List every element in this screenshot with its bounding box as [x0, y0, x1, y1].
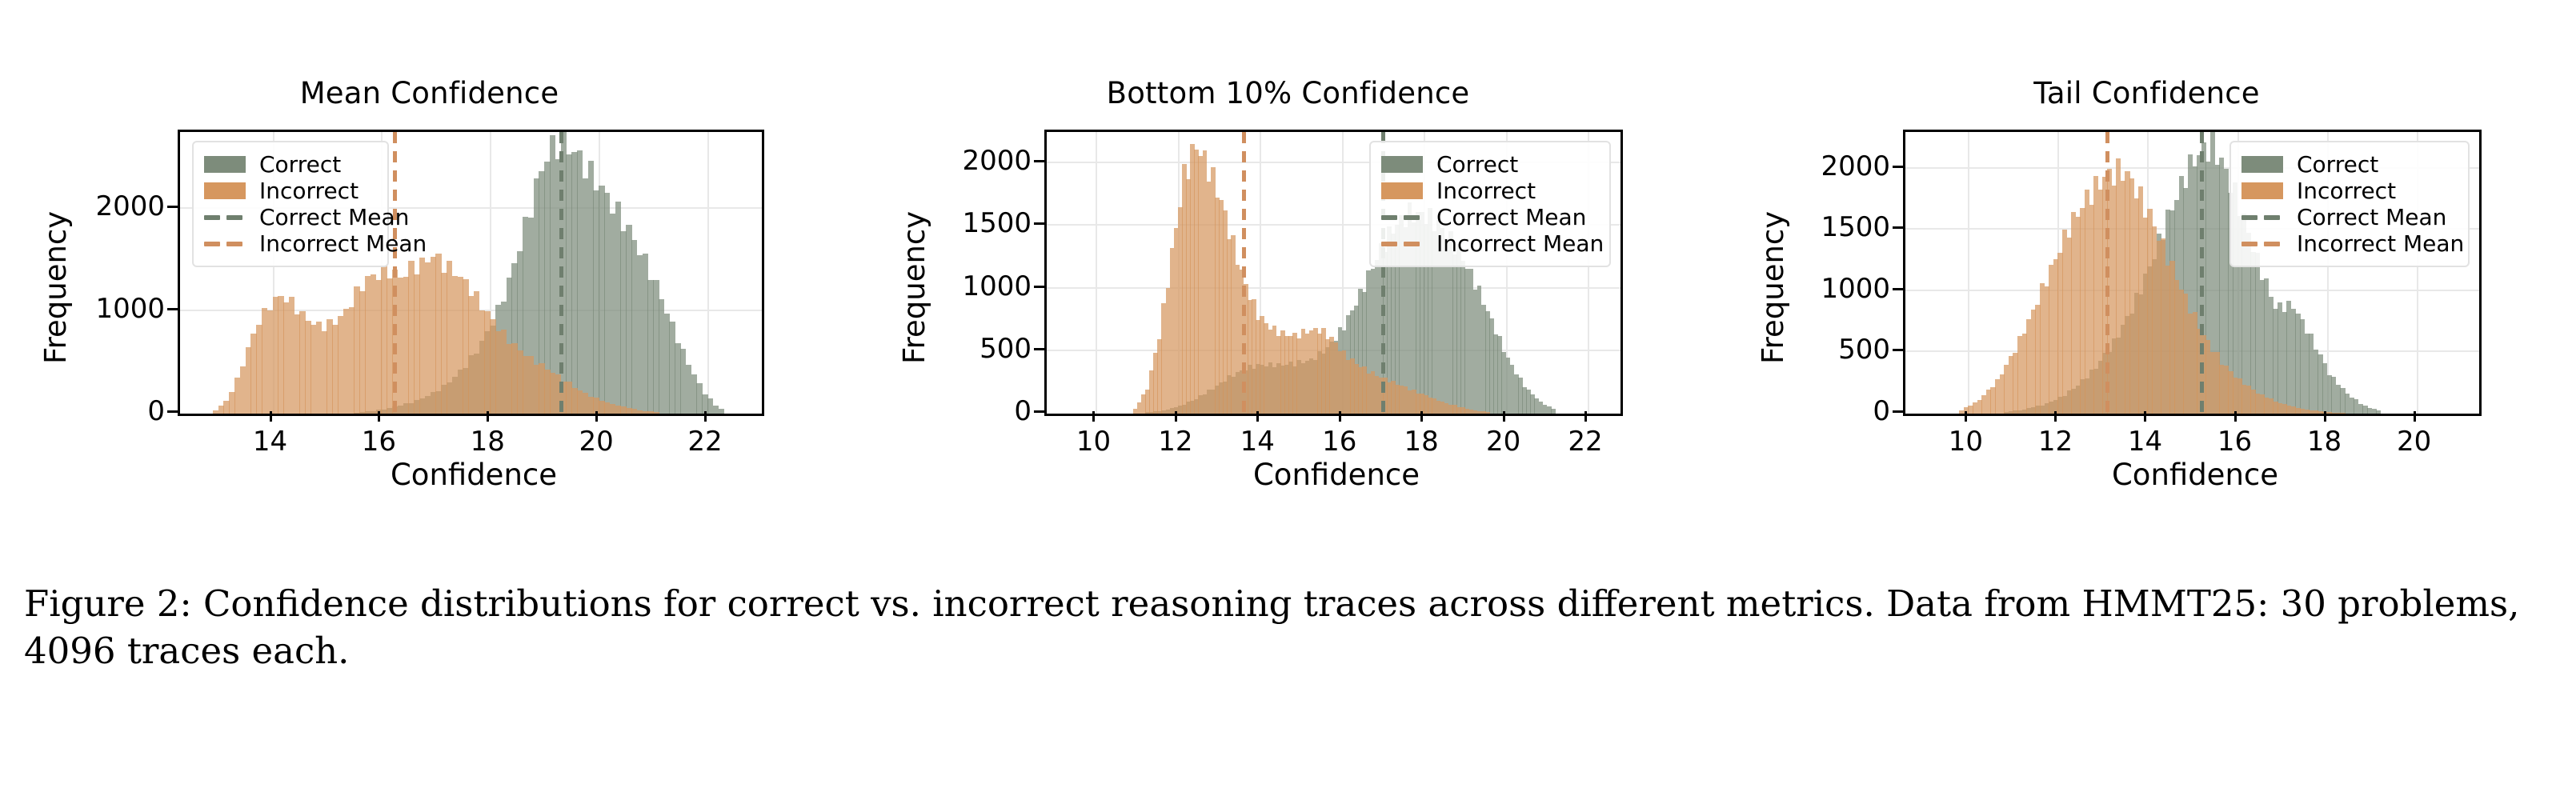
y-tick-mark	[167, 206, 178, 208]
x-tick-label: 16	[362, 426, 396, 458]
x-tick-mark	[1420, 411, 1423, 422]
incorrect-swatch	[204, 182, 246, 199]
y-tick-label: 1500	[1821, 211, 1890, 243]
legend-label: Correct	[2297, 151, 2378, 178]
y-tick-mark	[1034, 160, 1044, 162]
y-tick-label: 0	[1014, 395, 1032, 427]
histogram-bar	[653, 412, 659, 414]
y-axis-label: Frequency	[897, 211, 931, 364]
y-tick-label: 1000	[1821, 273, 1890, 305]
x-tick-label: 18	[2307, 426, 2342, 458]
x-tick-label: 20	[1486, 426, 1520, 458]
legend-label: Incorrect	[259, 178, 359, 204]
legend-label: Incorrect	[1436, 178, 1536, 204]
legend-item-correct: Correct	[2241, 151, 2455, 178]
x-tick-label: 14	[1240, 426, 1275, 458]
legend-label: Correct	[1436, 151, 1518, 178]
legend-item-incorrect: Incorrect	[1381, 178, 1596, 204]
legend-item-correct: Correct	[1381, 151, 1596, 178]
x-tick-label: 16	[1322, 426, 1356, 458]
figure-2: Mean Confidence Frequency Confidence 010…	[0, 0, 2576, 800]
incorrect-swatch	[2241, 182, 2283, 199]
x-tick-label: 18	[1404, 426, 1439, 458]
y-tick-label: 2000	[962, 145, 1032, 177]
histogram-bar	[719, 409, 724, 414]
x-tick-label: 22	[687, 426, 722, 458]
y-tick-label: 0	[147, 395, 165, 427]
plot-area-0: Frequency Confidence 0100020001416182022	[0, 0, 859, 560]
x-tick-label: 14	[253, 426, 287, 458]
y-tick-label: 500	[980, 333, 1032, 365]
x-axis-label: Confidence	[1899, 458, 2491, 492]
correct-swatch	[2241, 156, 2283, 173]
legend-label: Correct Mean	[2297, 204, 2446, 230]
legend: Correct Incorrect Correct Mean Incorrect…	[1369, 141, 1611, 267]
correct-swatch	[1381, 156, 1423, 173]
legend-label: Incorrect	[2297, 178, 2396, 204]
y-tick-mark	[1034, 222, 1044, 225]
correct-mean-line	[2200, 132, 2204, 414]
x-tick-mark	[2414, 411, 2416, 422]
legend: Correct Incorrect Correct Mean Incorrect…	[2229, 141, 2470, 267]
histogram-bar	[1485, 412, 1490, 414]
incorrect-mean-dash-icon	[2241, 235, 2283, 252]
legend: Correct Incorrect Correct Mean Incorrect…	[192, 141, 389, 267]
legend-item-incorrect: Incorrect	[2241, 178, 2455, 204]
x-tick-label: 10	[1949, 426, 1983, 458]
legend-item-incorrect-mean: Incorrect Mean	[204, 230, 375, 257]
y-tick-mark	[1034, 286, 1044, 288]
x-tick-mark	[270, 411, 272, 422]
y-tick-label: 2000	[1821, 150, 1890, 182]
x-tick-mark	[1584, 411, 1587, 422]
incorrect-mean-line	[393, 132, 397, 414]
legend-item-incorrect-mean: Incorrect Mean	[2241, 230, 2455, 257]
incorrect-mean-dash-icon	[204, 235, 246, 252]
legend-item-incorrect: Incorrect	[204, 178, 375, 204]
panel-bottom10-confidence: Bottom 10% Confidence Frequency Confiden…	[859, 0, 1717, 560]
legend-item-correct-mean: Correct Mean	[204, 204, 375, 230]
panel-row: Mean Confidence Frequency Confidence 010…	[0, 0, 2576, 560]
x-tick-label: 14	[2128, 426, 2162, 458]
correct-mean-dash-icon	[1381, 209, 1423, 226]
y-tick-label: 500	[1838, 334, 1890, 366]
panel-tail-confidence: Tail Confidence Frequency Confidence 050…	[1717, 0, 2576, 560]
y-tick-mark	[1893, 410, 1903, 413]
histogram-bar	[1551, 409, 1556, 414]
y-tick-mark	[167, 410, 178, 413]
x-tick-mark	[2144, 411, 2146, 422]
incorrect-mean-dash-icon	[1381, 235, 1423, 252]
x-tick-mark	[595, 411, 598, 422]
legend-label: Incorrect Mean	[2297, 230, 2464, 257]
y-tick-mark	[1034, 348, 1044, 350]
x-tick-mark	[2234, 411, 2237, 422]
x-tick-mark	[1256, 411, 1259, 422]
y-axis-label: Frequency	[38, 211, 73, 364]
x-tick-mark	[2324, 411, 2326, 422]
y-tick-label: 0	[1873, 395, 1890, 427]
legend-item-correct-mean: Correct Mean	[1381, 204, 1596, 230]
y-tick-mark	[1893, 226, 1903, 229]
y-tick-label: 1000	[95, 293, 165, 325]
y-tick-mark	[1893, 288, 1903, 290]
x-tick-label: 12	[2038, 426, 2073, 458]
correct-mean-line	[559, 132, 563, 414]
x-tick-mark	[487, 411, 489, 422]
figure-caption: Figure 2: Confidence distributions for c…	[24, 580, 2553, 675]
x-tick-label: 12	[1158, 426, 1192, 458]
x-tick-label: 16	[2217, 426, 2252, 458]
y-tick-label: 2000	[95, 190, 165, 222]
x-tick-mark	[1965, 411, 1967, 422]
y-tick-label: 1000	[962, 270, 1032, 302]
histogram-bar	[2340, 413, 2345, 414]
correct-mean-dash-icon	[2241, 209, 2283, 226]
x-axis-label: Confidence	[178, 458, 770, 492]
y-tick-mark	[1893, 349, 1903, 351]
y-axis-label: Frequency	[1756, 211, 1790, 364]
incorrect-swatch	[1381, 182, 1423, 199]
y-tick-label: 1500	[962, 207, 1032, 239]
x-tick-label: 20	[579, 426, 614, 458]
plot-area-1: Frequency Confidence 0500100015002000101…	[859, 0, 1717, 560]
legend-label: Incorrect Mean	[1436, 230, 1604, 257]
x-tick-mark	[1092, 411, 1095, 422]
x-tick-mark	[1503, 411, 1505, 422]
legend-item-correct-mean: Correct Mean	[2241, 204, 2455, 230]
plot-area-2: Frequency Confidence 0500100015002000101…	[1717, 0, 2576, 560]
y-tick-mark	[1893, 166, 1903, 168]
correct-mean-dash-icon	[204, 209, 246, 226]
legend-item-correct: Correct	[204, 151, 375, 178]
histogram-bar	[2376, 410, 2381, 414]
panel-mean-confidence: Mean Confidence Frequency Confidence 010…	[0, 0, 859, 560]
x-tick-label: 22	[1568, 426, 1602, 458]
incorrect-mean-line	[1242, 132, 1246, 414]
x-tick-mark	[1339, 411, 1341, 422]
legend-label: Correct Mean	[259, 204, 409, 230]
correct-swatch	[204, 156, 246, 173]
x-tick-label: 10	[1076, 426, 1111, 458]
x-tick-label: 20	[2397, 426, 2431, 458]
x-tick-mark	[2054, 411, 2057, 422]
incorrect-mean-line	[2105, 132, 2109, 414]
legend-label: Correct	[259, 151, 341, 178]
y-tick-mark	[167, 308, 178, 310]
legend-label: Correct Mean	[1436, 204, 1586, 230]
x-tick-mark	[378, 411, 380, 422]
y-tick-mark	[1034, 410, 1044, 413]
x-tick-mark	[1175, 411, 1177, 422]
x-tick-label: 18	[471, 426, 505, 458]
legend-label: Incorrect Mean	[259, 230, 427, 257]
legend-item-incorrect-mean: Incorrect Mean	[1381, 230, 1596, 257]
x-tick-mark	[704, 411, 707, 422]
x-axis-label: Confidence	[1040, 458, 1633, 492]
